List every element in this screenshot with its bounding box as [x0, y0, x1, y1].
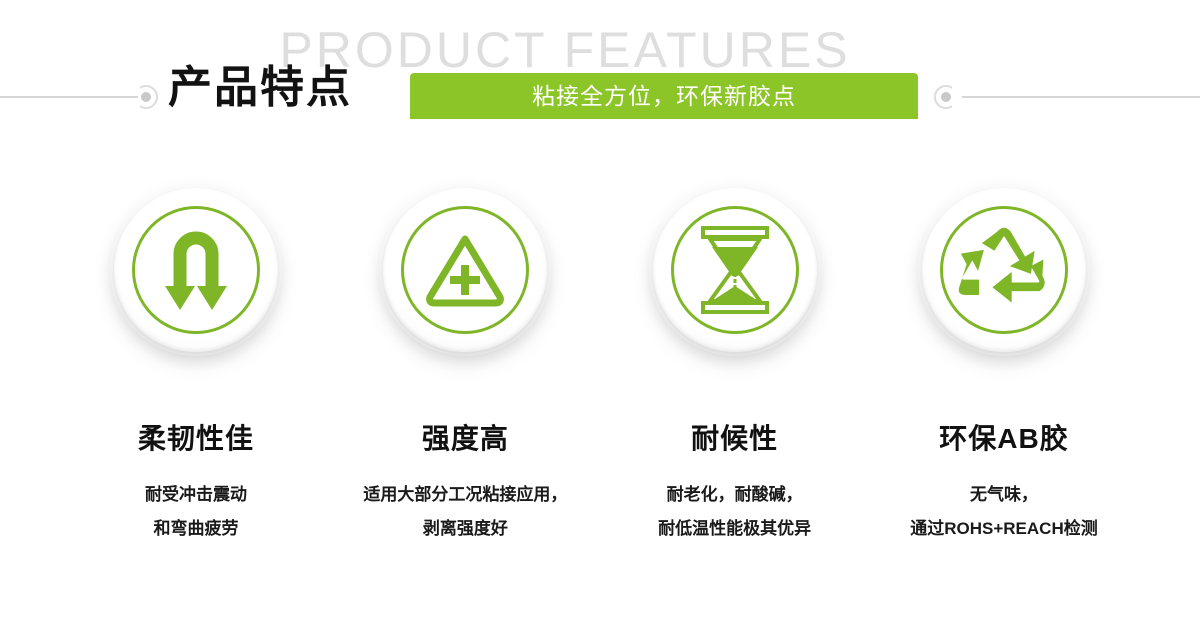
feature-title: 柔韧性佳	[138, 422, 254, 456]
feature-title: 环保AB胶	[939, 422, 1068, 456]
feature-description: 适用大部分工况粘接应用， 剥离强度好	[363, 478, 567, 546]
hourglass-icon	[697, 224, 773, 316]
triangle-plus-icon	[420, 225, 510, 315]
badge-ring	[132, 206, 260, 334]
u-turn-down-arrows-icon	[150, 224, 242, 316]
feature-description: 耐老化，耐酸碱， 耐低温性能极其优异	[658, 478, 811, 546]
feature-desc-line: 耐受冲击震动	[145, 478, 247, 512]
recycle-icon	[956, 222, 1052, 318]
feature-desc-line: 和弯曲疲劳	[145, 512, 247, 546]
feature-icon-badge	[653, 188, 817, 352]
feature-icon-badge	[383, 188, 547, 352]
circle-dot-icon	[141, 92, 151, 102]
decorative-circle-left	[134, 85, 158, 109]
feature-desc-line: 通过ROHS+REACH检测	[910, 512, 1098, 546]
feature-desc-line: 适用大部分工况粘接应用，	[363, 478, 567, 512]
feature-icon-badge	[922, 188, 1086, 352]
feature-icon-badge	[114, 188, 278, 352]
page-title: 产品特点	[168, 61, 352, 115]
badge-ring	[940, 206, 1068, 334]
decorative-circle-right	[934, 85, 958, 109]
feature-title: 耐候性	[691, 422, 778, 456]
feature-item-flexibility: 柔韧性佳 耐受冲击震动 和弯曲疲劳	[62, 188, 330, 546]
page-header: PRODUCT FEATURES 产品特点 粘接全方位，环保新胶点	[0, 0, 1200, 160]
feature-description: 耐受冲击震动 和弯曲疲劳	[145, 478, 247, 546]
divider-line-left	[0, 96, 138, 98]
feature-description: 无气味， 通过ROHS+REACH检测	[910, 478, 1098, 546]
feature-desc-line: 无气味，	[910, 478, 1098, 512]
feature-list: 柔韧性佳 耐受冲击震动 和弯曲疲劳 强度高 适用大部分工况粘接应用， 剥离强度好	[0, 188, 1200, 546]
feature-desc-line: 耐低温性能极其优异	[658, 512, 811, 546]
badge-ring	[401, 206, 529, 334]
badge-ring	[671, 206, 799, 334]
feature-desc-line: 耐老化，耐酸碱，	[658, 478, 811, 512]
feature-item-eco-friendly: 环保AB胶 无气味， 通过ROHS+REACH检测	[870, 188, 1138, 546]
divider-line-right	[962, 96, 1200, 98]
feature-desc-line: 剥离强度好	[363, 512, 567, 546]
feature-item-strength: 强度高 适用大部分工况粘接应用， 剥离强度好	[331, 188, 599, 546]
circle-dot-icon	[941, 92, 951, 102]
feature-title: 强度高	[422, 422, 509, 456]
feature-item-weather-resistance: 耐候性 耐老化，耐酸碱， 耐低温性能极其优异	[601, 188, 869, 546]
slogan-banner: 粘接全方位，环保新胶点	[410, 73, 918, 119]
